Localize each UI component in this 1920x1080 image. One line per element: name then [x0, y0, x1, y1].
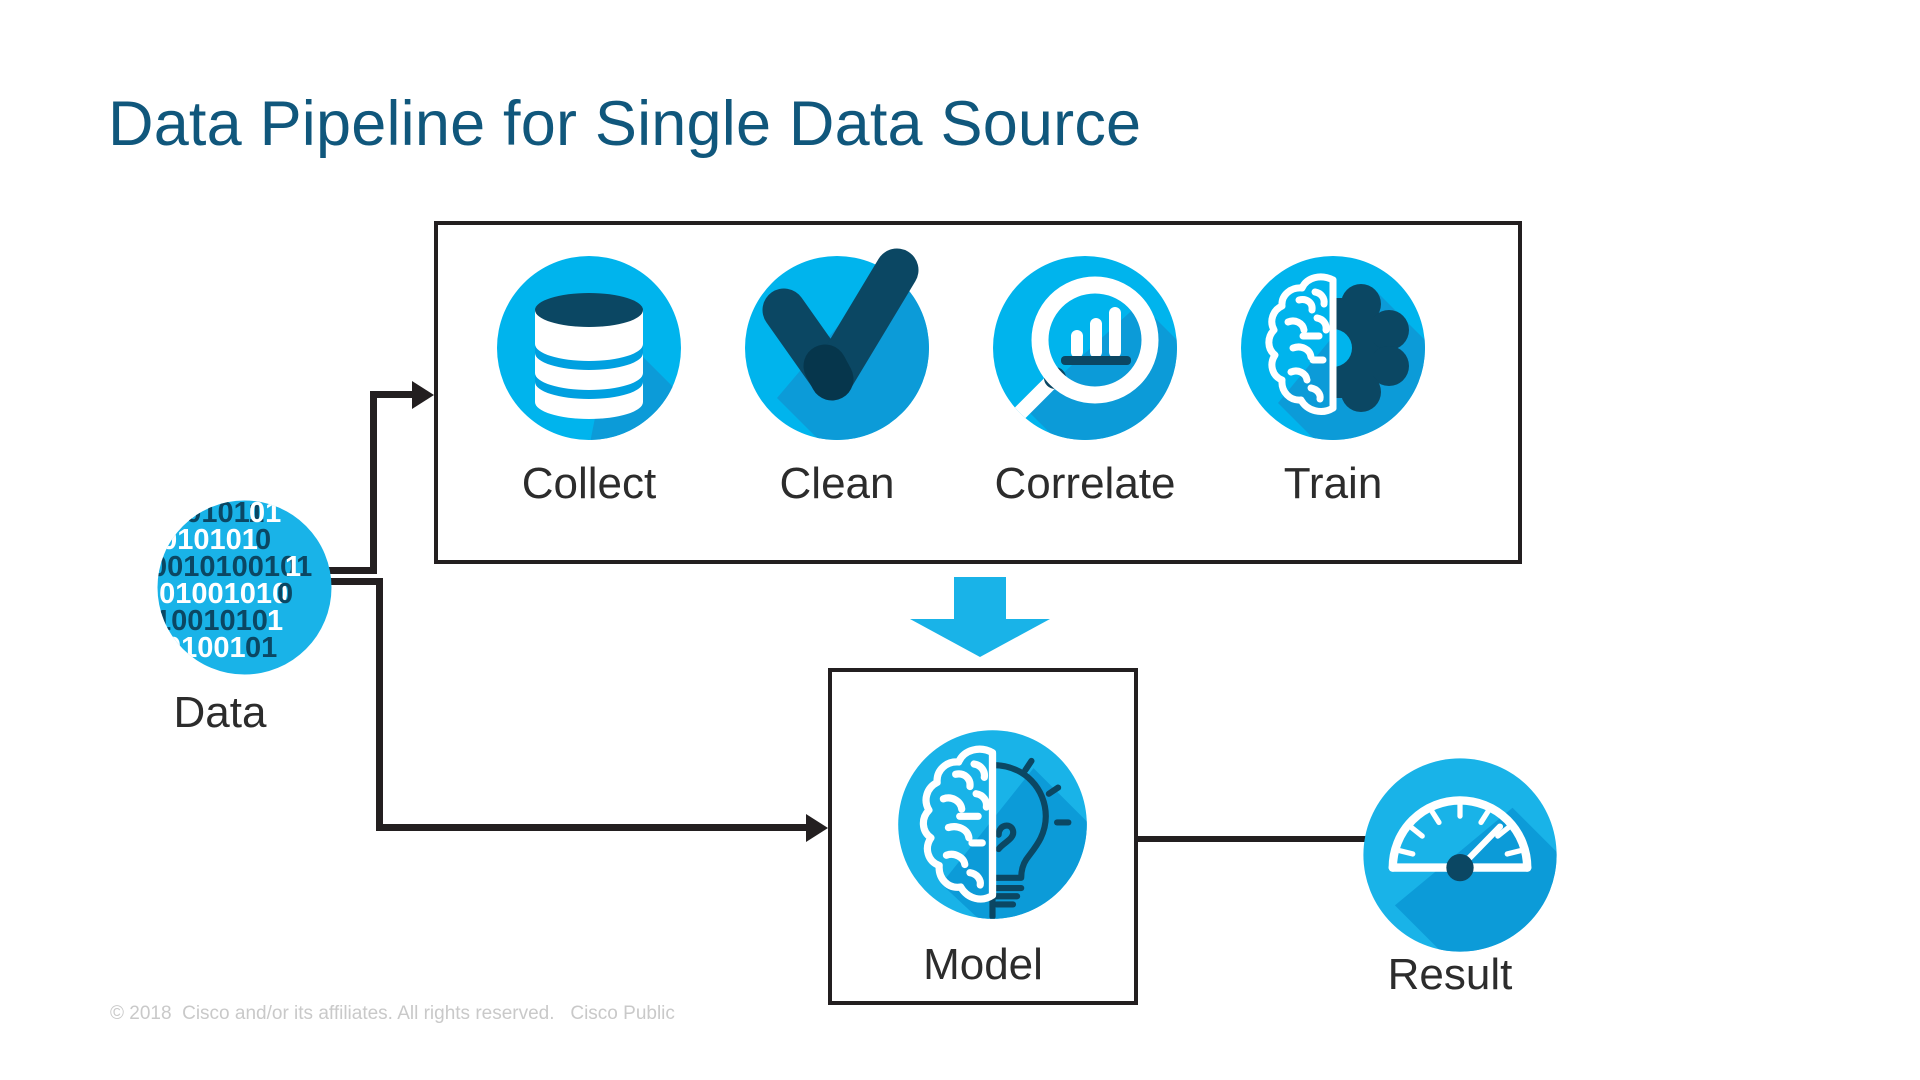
pipeline-stage-label-collect: Collect	[484, 459, 694, 509]
svg-text:01001: 01001	[165, 632, 246, 664]
pipeline-stage-clean[interactable]: Clean	[732, 243, 942, 509]
pipeline-stage-label-correlate: Correlate	[980, 459, 1190, 509]
binary-data-icon[interactable]: 1001011 0010101 0010100101 101001010 100…	[157, 500, 332, 675]
arrowhead-into-pipeline	[412, 381, 434, 409]
brain-gear-icon	[1228, 243, 1438, 453]
connector-data-to-pipeline-segment-2	[370, 391, 377, 574]
node-label-model: Model	[828, 940, 1138, 990]
slide-canvas: Data Pipeline for Single Data Source	[0, 0, 1920, 1080]
database-icon	[484, 243, 694, 453]
page-title: Data Pipeline for Single Data Source	[108, 88, 1141, 160]
pipeline-stage-train[interactable]: Train	[1228, 243, 1438, 509]
node-label-result: Result	[1330, 950, 1570, 1000]
svg-text:0: 0	[255, 524, 271, 556]
footer-copyright: © 2018 Cisco and/or its affiliates. All …	[110, 1003, 675, 1025]
pipeline-stage-label-clean: Clean	[732, 459, 942, 509]
node-label-data: Data	[100, 688, 340, 738]
pipeline-stage-collect[interactable]: Collect	[484, 243, 694, 509]
connector-data-to-model-segment-3	[376, 824, 820, 831]
down-arrow-icon	[910, 577, 1050, 657]
pipeline-stage-correlate[interactable]: Correlate	[980, 243, 1190, 509]
arrowhead-into-model	[806, 814, 828, 842]
gauge-icon[interactable]	[1355, 750, 1565, 960]
pipeline-stage-label-train: Train	[1228, 459, 1438, 509]
brain-lightbulb-icon[interactable]	[890, 722, 1095, 927]
connector-data-to-model-segment-2	[376, 578, 383, 831]
magnifier-bar-chart-icon	[980, 243, 1190, 453]
svg-text:01: 01	[245, 632, 277, 664]
checkmark-icon	[732, 243, 942, 453]
